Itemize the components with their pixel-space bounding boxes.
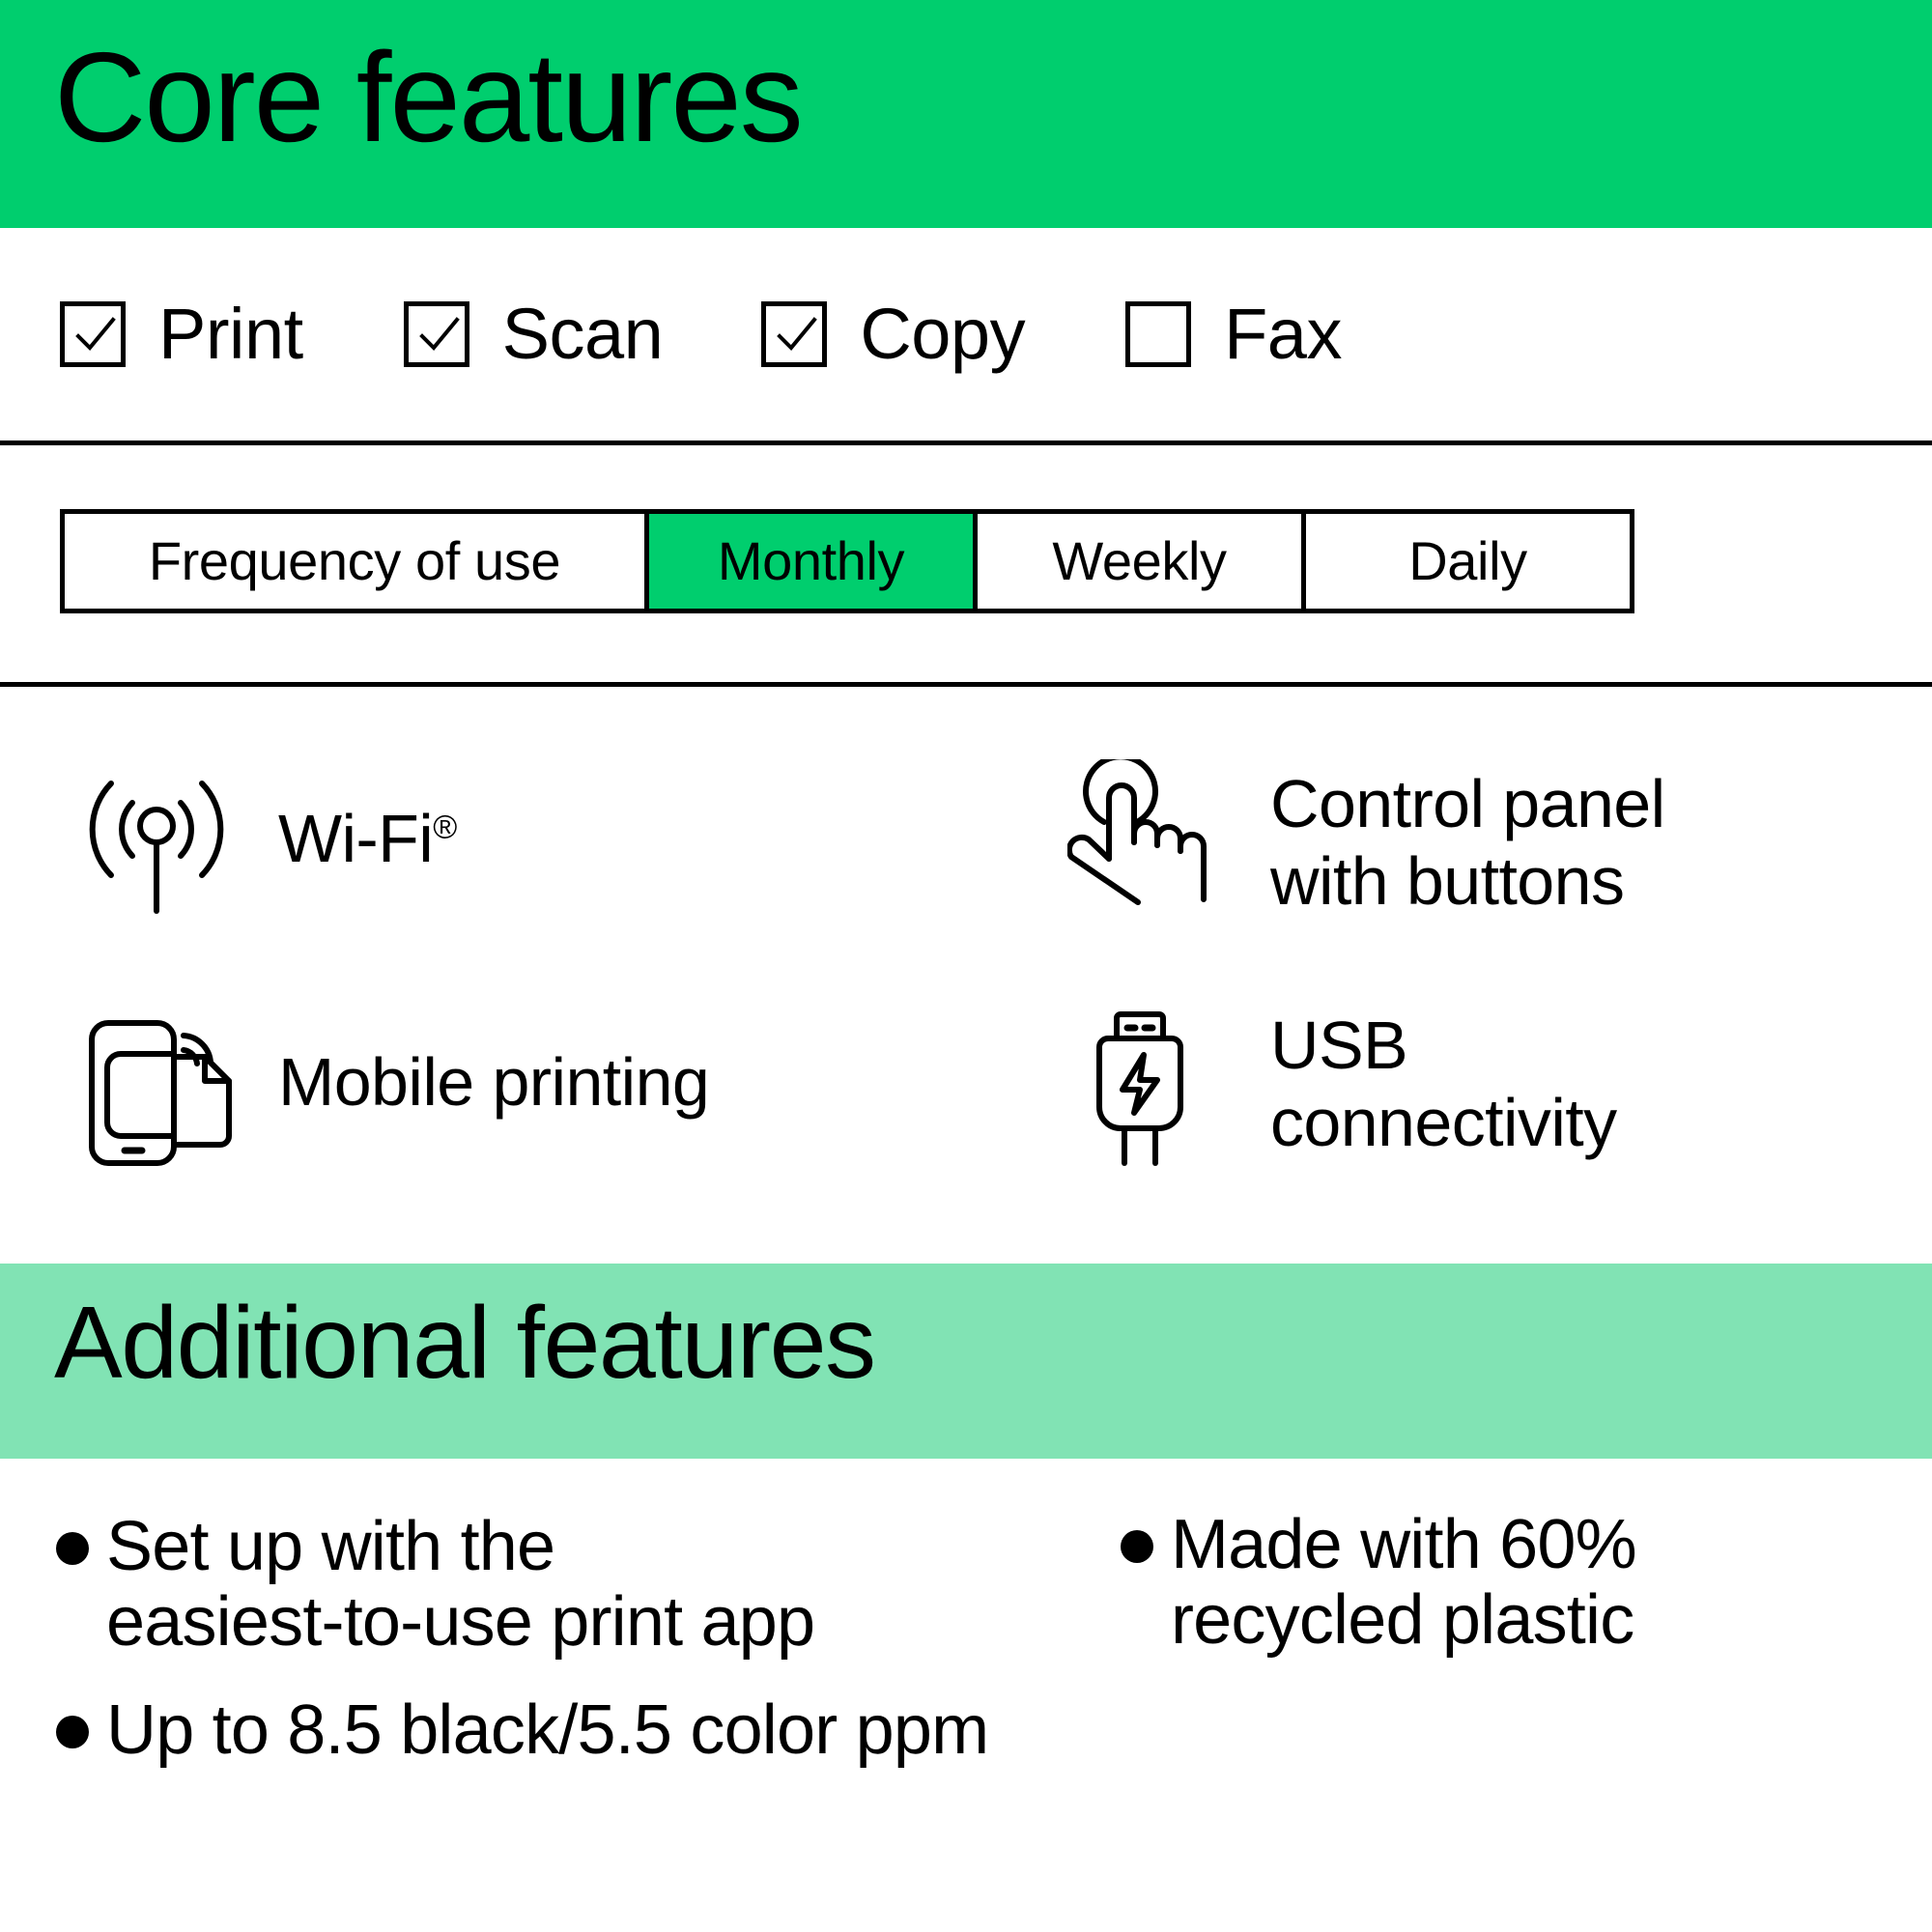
feature-wifi-label: Wi-Fi® [278, 750, 457, 877]
registered-trademark-icon: ® [433, 810, 456, 846]
wifi-icon [60, 750, 253, 943]
additional-features-band: Additional features [0, 1264, 1932, 1459]
feature-usb-label: USB connectivity [1270, 983, 1617, 1161]
capability-print-label: Print [158, 298, 303, 370]
capability-checkbox-row: Print Scan Copy Fax [0, 228, 1932, 440]
product-feature-card: Core features Print Scan [0, 0, 1932, 1932]
mobile-print-icon [60, 991, 253, 1184]
bullet-text: Set up with the easiest-to-use print app [106, 1509, 814, 1660]
bullet-column-right: Made with 60% recycled plastic [1121, 1507, 1913, 1690]
capability-fax-label: Fax [1224, 298, 1342, 370]
capability-copy-label: Copy [860, 298, 1025, 370]
bullet-text: Up to 8.5 black/5.5 color ppm [106, 1692, 988, 1768]
feature-mobile-printing: Mobile printing [60, 991, 709, 1184]
bullet-dot-icon [56, 1716, 89, 1748]
feature-mobile-printing-label: Mobile printing [278, 991, 709, 1121]
divider-above-frequency [0, 440, 1932, 445]
checkmark-icon[interactable] [60, 301, 126, 367]
frequency-option-daily[interactable]: Daily [1301, 514, 1630, 609]
feature-control-panel-label: Control panel with buttons [1270, 742, 1665, 920]
frequency-of-use-control[interactable]: Frequency of use Monthly Weekly Daily [60, 509, 1634, 613]
capability-fax[interactable]: Fax [1125, 298, 1342, 370]
feature-icon-grid: Wi-Fi® Control panel with buttons [0, 682, 1932, 1264]
feature-wifi: Wi-Fi® [60, 750, 457, 943]
frequency-option-monthly[interactable]: Monthly [644, 514, 973, 609]
capability-copy[interactable]: Copy [761, 298, 1025, 370]
checkmark-icon[interactable] [404, 301, 469, 367]
list-item: Made with 60% recycled plastic [1121, 1507, 1913, 1658]
core-features-title: Core features [54, 25, 802, 170]
feature-usb: USB connectivity [1048, 983, 1617, 1177]
capability-print[interactable]: Print [60, 298, 303, 370]
frequency-label: Frequency of use [65, 514, 644, 609]
list-item: Set up with the easiest-to-use print app [56, 1509, 1080, 1660]
core-features-band: Core features [0, 0, 1932, 228]
bullet-text: Made with 60% recycled plastic [1171, 1507, 1636, 1658]
empty-checkbox-icon[interactable] [1125, 301, 1191, 367]
feature-control-panel: Control panel with buttons [1048, 742, 1665, 935]
additional-features-title: Additional features [54, 1285, 875, 1401]
capability-scan[interactable]: Scan [404, 298, 664, 370]
additional-features-bullets: Set up with the easiest-to-use print app… [0, 1459, 1932, 1932]
list-item: Up to 8.5 black/5.5 color ppm [56, 1692, 1080, 1768]
bullet-dot-icon [1121, 1530, 1153, 1563]
bullet-dot-icon [56, 1532, 89, 1565]
capability-scan-label: Scan [502, 298, 664, 370]
tap-hand-icon [1048, 742, 1232, 935]
checkmark-icon[interactable] [761, 301, 827, 367]
usb-plug-icon [1048, 983, 1232, 1177]
bullet-column-left: Set up with the easiest-to-use print app… [56, 1509, 1080, 1801]
frequency-option-weekly[interactable]: Weekly [973, 514, 1301, 609]
